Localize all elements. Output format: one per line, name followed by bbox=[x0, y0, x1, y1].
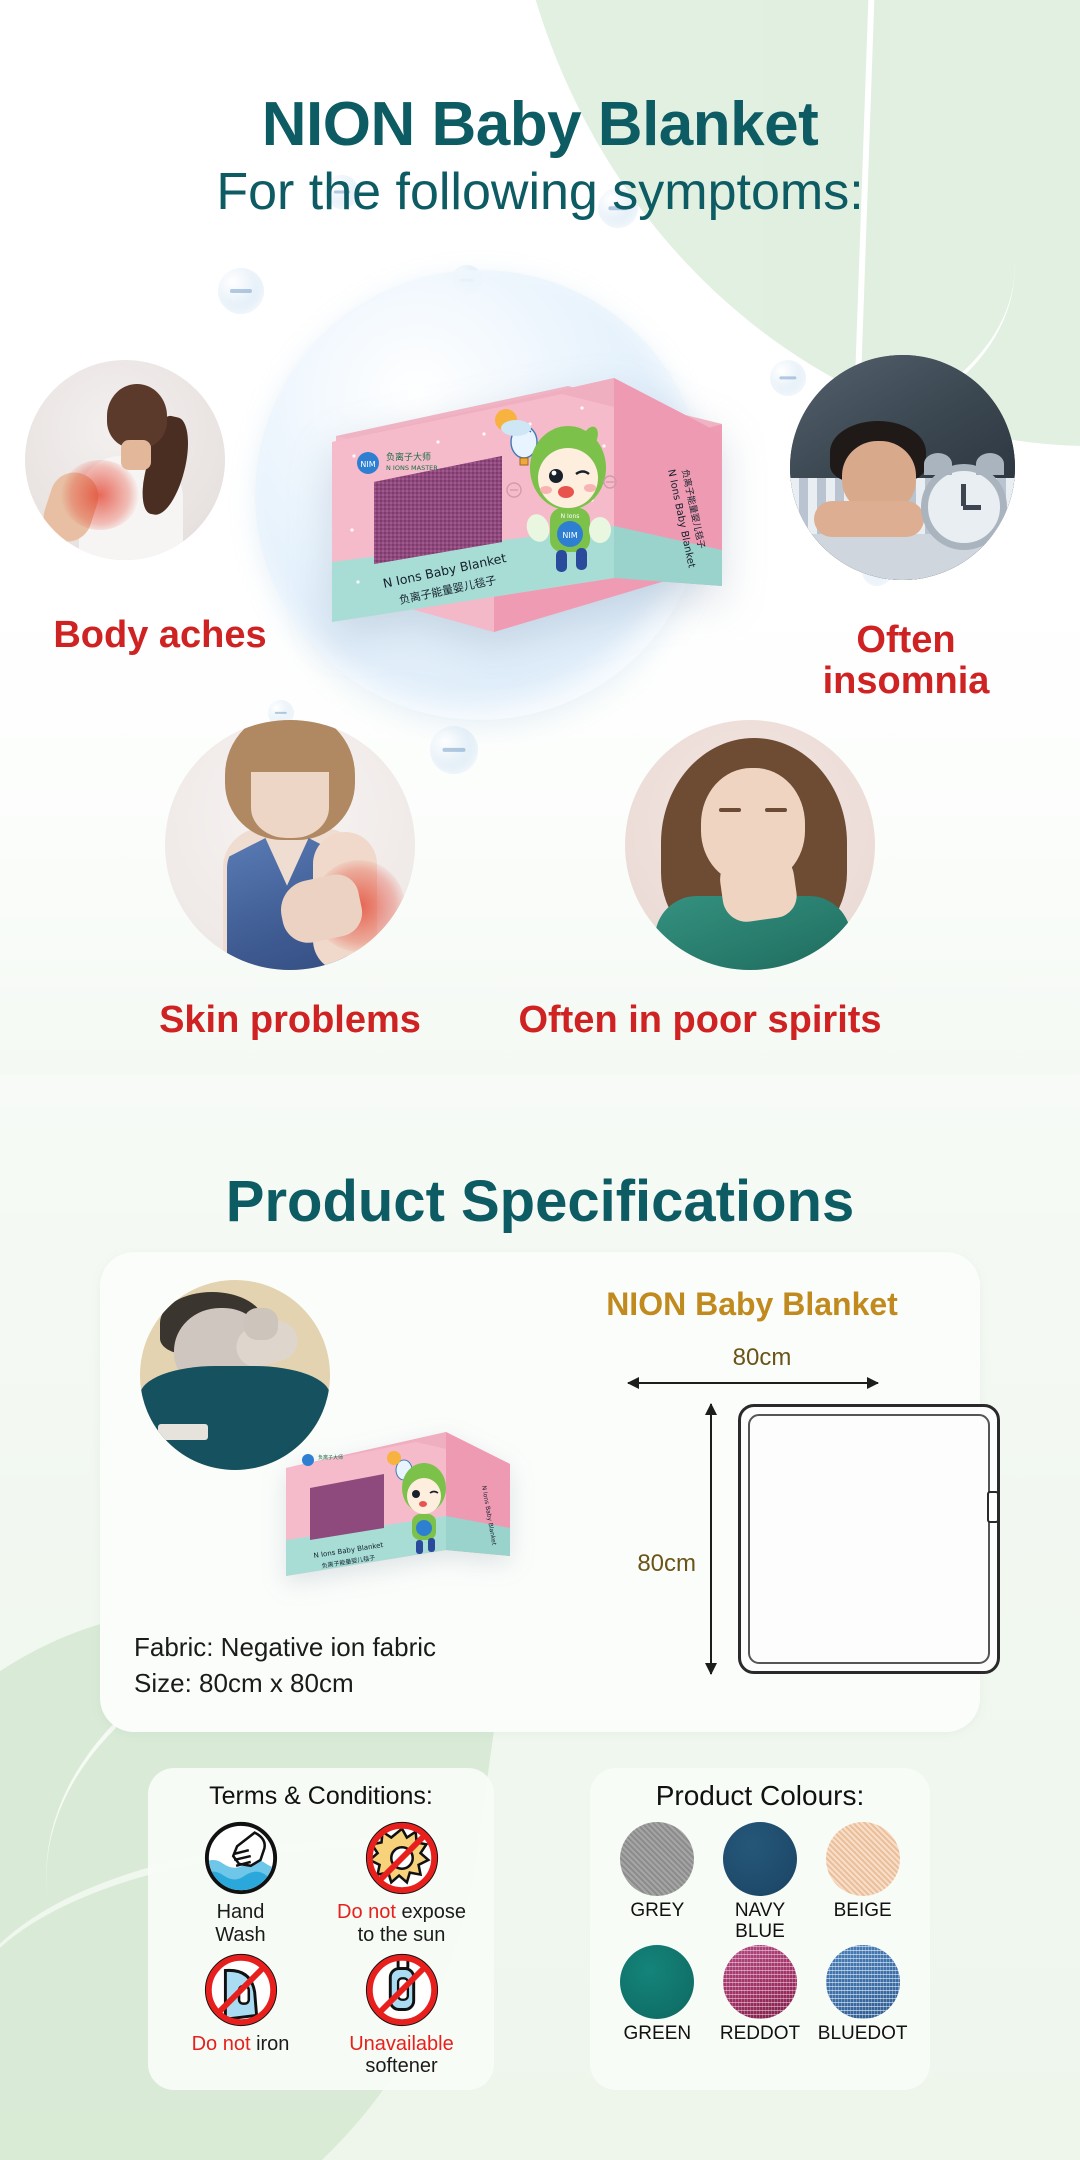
dimension-height-label: 80cm bbox=[586, 1550, 696, 1578]
hand-wash-label-line1: Hand bbox=[217, 1901, 265, 1923]
colour-label-navy-line2: BLUE bbox=[735, 1921, 785, 1942]
swatch-circle-navy-blue bbox=[723, 1822, 797, 1896]
hand-wash-label-line2: Wash bbox=[215, 1924, 265, 1946]
specs-section-title: Product Specifications bbox=[0, 1168, 1080, 1235]
insomnia-label-line1: Often bbox=[778, 620, 1034, 661]
swatch-circle-beige bbox=[826, 1822, 900, 1896]
colour-swatch-green: GREEN bbox=[608, 1945, 707, 2044]
svg-text:N IONS MASTER: N IONS MASTER bbox=[386, 464, 438, 472]
fabric-line: Fabric: Negative ion fabric bbox=[134, 1630, 554, 1666]
colour-label-grey: GREY bbox=[608, 1900, 707, 1921]
care-item-no-softener: Unavailable softener bbox=[323, 1951, 480, 2079]
page-subtitle: For the following symptoms: bbox=[0, 163, 1080, 223]
symptom-photo-often-insomnia bbox=[790, 355, 1015, 580]
terms-conditions-card: Terms & Conditions: bbox=[148, 1768, 494, 2090]
symptom-photo-poor-spirits bbox=[625, 720, 875, 970]
page-title: NION Baby Blanket bbox=[0, 92, 1080, 157]
product-infographic-page: NION Baby Blanket For the following symp… bbox=[0, 0, 1080, 2160]
insomnia-label-line2: insomnia bbox=[778, 661, 1034, 702]
care-item-no-iron: Do not iron bbox=[162, 1951, 319, 2079]
product-box-hero: NIM 负离子大师 N IONS MASTER bbox=[318, 350, 738, 670]
colour-swatch-beige: BEIGE bbox=[813, 1822, 912, 1943]
symptom-photo-body-aches bbox=[25, 360, 225, 560]
page-header: NION Baby Blanket For the following symp… bbox=[0, 92, 1080, 223]
blanket-name-label: NION Baby Blanket bbox=[552, 1286, 952, 1323]
specs-card: 负离子大师 N Ions Baby Blanket 负离子能量婴儿毯子 N Io… bbox=[100, 1252, 980, 1732]
care-item-hand-wash: Hand Wash bbox=[162, 1819, 319, 1947]
dimension-arrow-vertical bbox=[710, 1404, 712, 1674]
no-iron-label-prefix: Do not bbox=[192, 2033, 251, 2055]
symptom-label-body-aches: Body aches bbox=[0, 615, 320, 656]
ion-bubble bbox=[430, 726, 478, 774]
product-colours-card: Product Colours: GREY NAVY BLUE BEIGE GR… bbox=[590, 1768, 930, 2090]
no-sun-label-line2: to the sun bbox=[358, 1924, 446, 1946]
colour-label-navy-line1: NAVY bbox=[735, 1900, 785, 1921]
blanket-tag-marker bbox=[987, 1491, 999, 1523]
colour-label-green: GREEN bbox=[608, 2023, 707, 2044]
blanket-outline-diagram bbox=[738, 1404, 1000, 1674]
colour-label-reddot: REDDOT bbox=[711, 2023, 810, 2044]
colour-label-bluedot: BLUEDOT bbox=[813, 2023, 912, 2044]
care-item-no-sun: Do not expose to the sun bbox=[323, 1819, 480, 1947]
no-iron-icon bbox=[202, 1951, 280, 2029]
dimension-arrow-horizontal bbox=[628, 1382, 878, 1384]
no-softener-icon bbox=[363, 1951, 441, 2029]
symptom-label-skin-problems: Skin problems bbox=[110, 1000, 470, 1041]
hand-wash-icon bbox=[202, 1819, 280, 1897]
colour-label-beige: BEIGE bbox=[813, 1900, 912, 1921]
symptom-photo-skin-problems bbox=[165, 720, 415, 970]
no-softener-label-prefix: Unavailable bbox=[349, 2033, 454, 2055]
no-softener-label-line2: softener bbox=[365, 2055, 437, 2077]
no-iron-label-line1: iron bbox=[251, 2033, 290, 2055]
symptom-label-poor-spirits: Often in poor spirits bbox=[460, 1000, 940, 1041]
colour-swatch-bluedot: BLUEDOT bbox=[813, 1945, 912, 2044]
svg-text:N Ions: N Ions bbox=[561, 513, 580, 520]
ion-bubble bbox=[218, 268, 264, 314]
svg-text:NIM: NIM bbox=[562, 531, 577, 540]
product-box-thumbnail: 负离子大师 N Ions Baby Blanket 负离子能量婴儿毯子 N Io… bbox=[278, 1416, 518, 1600]
colour-swatch-grey: GREY bbox=[608, 1822, 707, 1943]
colour-swatch-reddot: REDDOT bbox=[711, 1945, 810, 2044]
terms-conditions-title: Terms & Conditions: bbox=[148, 1768, 494, 1811]
no-sun-label-prefix: Do not bbox=[337, 1901, 396, 1923]
no-sun-icon bbox=[363, 1819, 441, 1897]
product-colours-title: Product Colours: bbox=[590, 1768, 930, 1812]
swatch-circle-bluedot bbox=[826, 1945, 900, 2019]
colour-swatch-navy-blue: NAVY BLUE bbox=[711, 1822, 810, 1943]
symptom-label-often-insomnia: Often insomnia bbox=[778, 620, 1034, 702]
dimension-width-label: 80cm bbox=[682, 1344, 842, 1372]
svg-text:负离子大师: 负离子大师 bbox=[386, 451, 431, 463]
fabric-spec-text: Fabric: Negative ion fabric Size: 80cm x… bbox=[134, 1630, 554, 1702]
swatch-circle-grey bbox=[620, 1822, 694, 1896]
size-line: Size: 80cm x 80cm bbox=[134, 1666, 554, 1702]
swatch-circle-green bbox=[620, 1945, 694, 2019]
no-sun-label-line1: expose bbox=[396, 1901, 466, 1923]
svg-text:负离子大师: 负离子大师 bbox=[318, 1454, 343, 1461]
svg-text:NIM: NIM bbox=[360, 460, 375, 469]
swatch-circle-reddot bbox=[723, 1945, 797, 2019]
